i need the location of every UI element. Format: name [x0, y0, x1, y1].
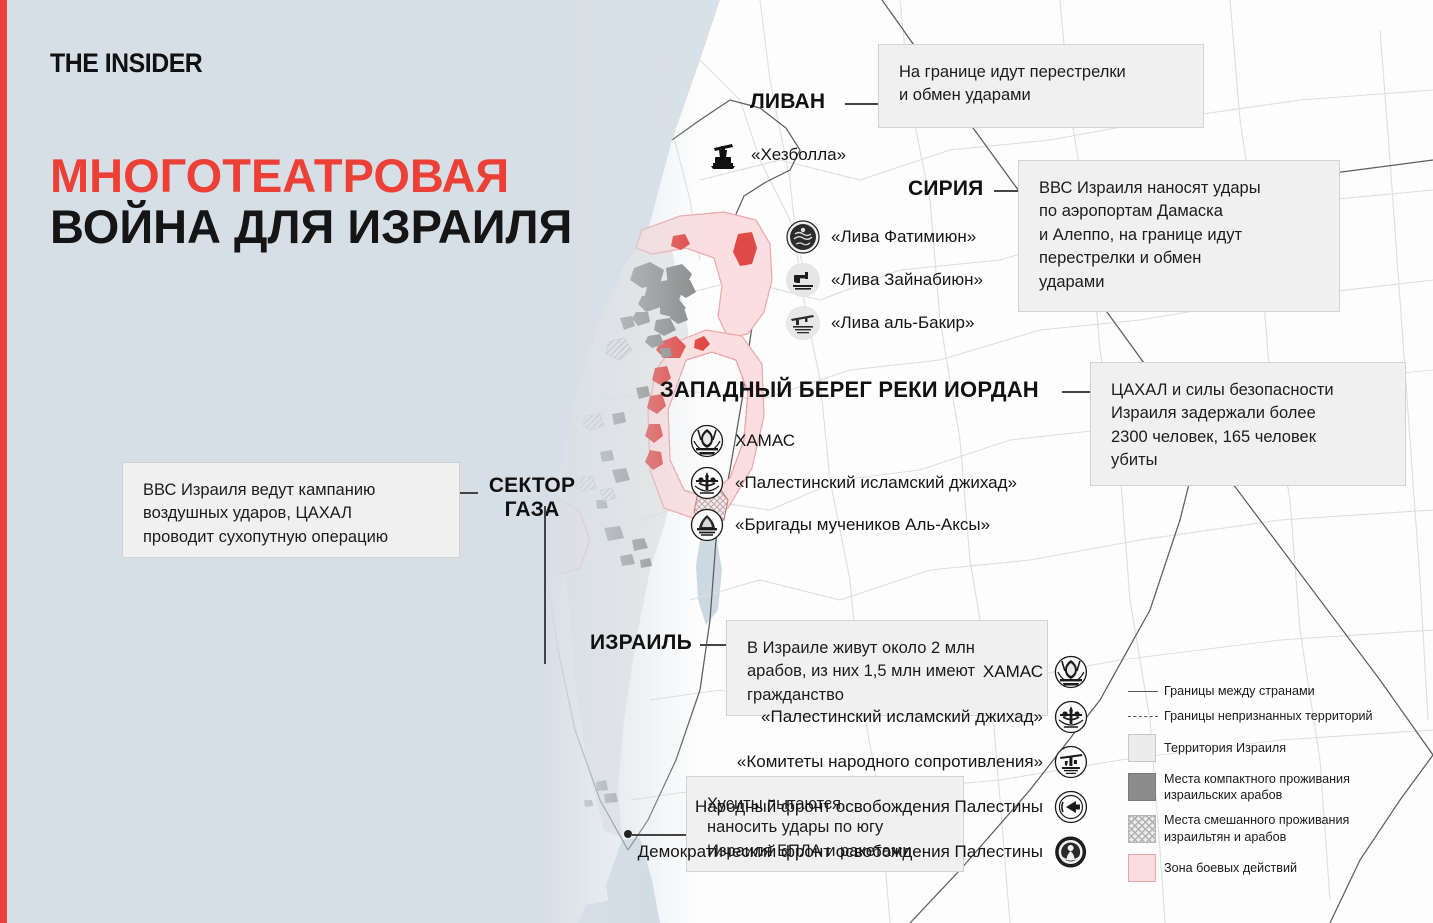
legend-row-israel-territory: Территория Израиля: [1128, 734, 1428, 762]
faction-row-gaza-dflp: Демократический фронт освобождения Палес…: [638, 835, 1088, 869]
callout-west-bank: ЦАХАЛ и силы безопасности Израиля задерж…: [1090, 362, 1406, 486]
map-legend: Границы между странами Границы непризнан…: [1128, 683, 1428, 891]
legend-swatch-israel: [1128, 734, 1164, 762]
faction-row-liwa-zainabiyoun: «Лива Зайнабиюн»: [786, 263, 983, 297]
faction-label: «Палестинский исламский джихад»: [735, 473, 1017, 493]
liwa-zainabiyoun-emblem: [786, 263, 820, 297]
dflp-emblem: [1054, 835, 1088, 869]
faction-label: Народный фронт освобождения Палестины: [695, 797, 1043, 817]
liwa-al-baqir-emblem: [786, 306, 820, 340]
faction-label: «Хезболла»: [751, 145, 846, 165]
legend-swatch-mixed: [1128, 815, 1164, 843]
faction-label: ХАМАС: [735, 431, 795, 451]
faction-label: ХАМАС: [983, 662, 1043, 682]
faction-label: «Комитеты народного сопротивления»: [737, 752, 1043, 772]
faction-row-wb-pij: «Палестинский исламский джихад»: [690, 466, 1017, 500]
infographic-root: THE INSIDER МНОГОТЕАТРОВАЯ ВОЙНА ДЛЯ ИЗР…: [0, 0, 1433, 923]
legend-swatch-line: [1128, 683, 1164, 692]
faction-row-gaza-prc: «Комитеты народного сопротивления»: [737, 745, 1088, 779]
page-title: МНОГОТЕАТРОВАЯ ВОЙНА ДЛЯ ИЗРАИЛЯ: [50, 152, 572, 252]
leader-line-gaza-vertical: [544, 506, 546, 664]
faction-row-liwa-fatemiyoun: «Лива Фатимиюн»: [786, 220, 976, 254]
faction-row-gaza-pflp: Народный фронт освобождения Палестины: [695, 790, 1088, 824]
legend-swatch-dashed-line: [1128, 708, 1164, 717]
leader-line-israel: [700, 644, 726, 646]
title-line-2: ВОЙНА ДЛЯ ИЗРАИЛЯ: [50, 203, 572, 251]
pflp-emblem: [1054, 790, 1088, 824]
callout-syria: ВВС Израиля наносят удары по аэропортам …: [1018, 160, 1340, 312]
houthi-target-dot: [624, 830, 632, 838]
faction-label: Демократический фронт освобождения Палес…: [638, 842, 1043, 862]
hamas-emblem: [690, 424, 724, 458]
country-label-west-bank: ЗАПАДНЫЙ БЕРЕГ РЕКИ ИОРДАН: [660, 378, 1039, 403]
leader-line-lebanon: [845, 103, 879, 105]
leader-line-west-bank: [1062, 391, 1090, 393]
legend-row-unrecognized-borders: Границы непризнанных территорий: [1128, 708, 1428, 724]
legend-row-war-zone: Зона боевых действий: [1128, 854, 1428, 882]
publisher-logo: THE INSIDER: [50, 48, 202, 79]
al-aqsa-brigades-emblem: [690, 508, 724, 542]
faction-row-liwa-al-baqir: «Лива аль-Бакир»: [786, 306, 974, 340]
accent-bar: [0, 0, 7, 923]
liwa-fatemiyoun-emblem: [786, 220, 820, 254]
faction-label: «Лива Зайнабиюн»: [831, 270, 983, 290]
faction-label: «Бригады мучеников Аль-Аксы»: [735, 515, 990, 535]
legend-label: Территория Израиля: [1164, 740, 1286, 756]
pij-emblem: [690, 466, 724, 500]
title-line-1: МНОГОТЕАТРОВАЯ: [50, 152, 572, 200]
country-label-gaza: СЕКТОР ГАЗА: [484, 474, 580, 521]
leader-line-syria: [994, 190, 1020, 192]
legend-row-country-borders: Границы между странами: [1128, 683, 1428, 699]
legend-swatch-arab: [1128, 773, 1164, 801]
legend-row-mixed-areas: Места смешанного проживания израильтян и…: [1128, 812, 1428, 845]
faction-row-wb-hamas: ХАМАС: [690, 424, 795, 458]
legend-label: Зона боевых действий: [1164, 860, 1297, 876]
country-label-israel: ИЗРАИЛЬ: [590, 631, 692, 655]
faction-row-gaza-hamas: ХАМАС: [983, 655, 1088, 689]
legend-swatch-war-zone: [1128, 854, 1164, 882]
legend-label: Границы непризнанных территорий: [1164, 708, 1373, 724]
legend-label: Места смешанного проживания израильтян и…: [1164, 812, 1349, 845]
country-label-syria: СИРИЯ: [908, 177, 983, 201]
pij-emblem: [1054, 700, 1088, 734]
faction-label: «Лива аль-Бакир»: [831, 313, 974, 333]
prc-emblem: [1054, 745, 1088, 779]
legend-label: Границы между странами: [1164, 683, 1315, 699]
faction-row-hezbollah: «Хезболла»: [706, 138, 846, 172]
faction-row-gaza-pij: «Палестинский исламский джихад»: [761, 700, 1088, 734]
country-label-lebanon: ЛИВАН: [750, 90, 825, 114]
callout-gaza: ВВС Израиля ведут кампанию воздушных уда…: [122, 462, 460, 558]
hamas-emblem: [1054, 655, 1088, 689]
hezbollah-emblem: [706, 138, 740, 172]
legend-label: Места компактного проживания израильских…: [1164, 771, 1350, 804]
callout-lebanon: На границе идут перестрелки и обмен удар…: [878, 44, 1204, 128]
faction-label: «Палестинский исламский джихад»: [761, 707, 1043, 727]
faction-label: «Лива Фатимиюн»: [831, 227, 976, 247]
legend-row-arab-areas: Места компактного проживания израильских…: [1128, 771, 1428, 804]
faction-row-wb-al-aqsa: «Бригады мучеников Аль-Аксы»: [690, 508, 990, 542]
